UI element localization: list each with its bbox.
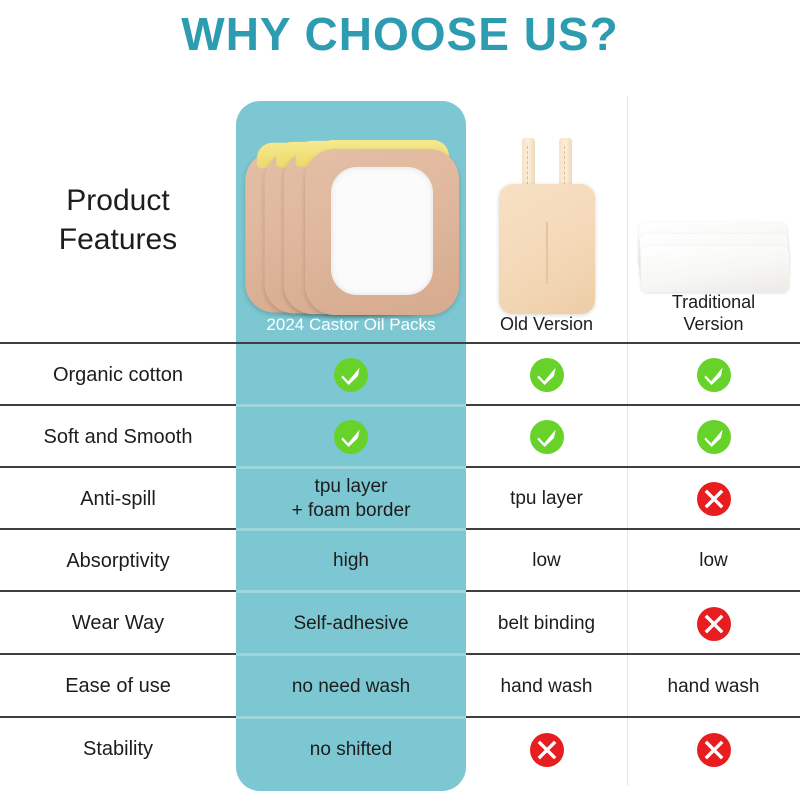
column-header-old-version: Old Version bbox=[466, 96, 627, 344]
feature-label: Anti-spill bbox=[0, 468, 236, 530]
feature-label: Absorptivity bbox=[0, 530, 236, 592]
feature-label: Soft and Smooth bbox=[0, 406, 236, 468]
cross-icon bbox=[466, 718, 627, 781]
cell-value: hand wash bbox=[466, 655, 627, 718]
table-row: Absorptivityhighlowlow bbox=[0, 530, 800, 592]
cell-value: low bbox=[627, 530, 800, 592]
pack-layer-front bbox=[305, 149, 459, 315]
check-icon bbox=[236, 344, 466, 406]
castor-oil-packs-image bbox=[236, 96, 466, 315]
comparison-table: Product Features 2024 Castor Oil Packs bbox=[0, 96, 800, 796]
traditional-version-image bbox=[627, 96, 800, 292]
check-icon bbox=[466, 344, 627, 406]
check-icon bbox=[627, 406, 800, 468]
table-row: Anti-spilltpu layer+ foam bordertpu laye… bbox=[0, 468, 800, 530]
cell-value: no need wash bbox=[236, 655, 466, 718]
traditional-label-line1: Traditional bbox=[672, 292, 755, 314]
features-header-line2: Features bbox=[59, 220, 177, 259]
cell-value: high bbox=[236, 530, 466, 592]
cross-icon bbox=[627, 592, 800, 655]
check-icon bbox=[236, 406, 466, 468]
column-header-new-product: 2024 Castor Oil Packs bbox=[236, 96, 466, 344]
table-row: Organic cotton bbox=[0, 344, 800, 406]
feature-label: Organic cotton bbox=[0, 344, 236, 406]
cell-value: Self-adhesive bbox=[236, 592, 466, 655]
cell-value: tpu layer bbox=[466, 468, 627, 530]
feature-label: Ease of use bbox=[0, 655, 236, 718]
features-header-line1: Product bbox=[59, 181, 177, 220]
cell-value-line2: + foam border bbox=[292, 499, 411, 523]
feature-label: Stability bbox=[0, 718, 236, 781]
traditional-label-line2: Version bbox=[672, 314, 755, 336]
column-label-new-product: 2024 Castor Oil Packs bbox=[266, 315, 435, 336]
belt-wrap-body bbox=[499, 184, 595, 314]
table-row: Stabilityno shifted bbox=[0, 718, 800, 781]
table-header-row: Product Features 2024 Castor Oil Packs bbox=[0, 96, 800, 344]
column-label-old-version: Old Version bbox=[500, 314, 593, 336]
cross-icon bbox=[627, 718, 800, 781]
cell-value: no shifted bbox=[236, 718, 466, 781]
check-icon bbox=[466, 406, 627, 468]
column-header-traditional-version: Traditional Version bbox=[627, 96, 800, 344]
table-row: Soft and Smooth bbox=[0, 406, 800, 468]
table-row: Wear WaySelf-adhesivebelt binding bbox=[0, 592, 800, 655]
product-features-header: Product Features bbox=[0, 96, 236, 344]
flannel-sheet-bottom bbox=[641, 246, 789, 292]
old-version-image bbox=[466, 96, 627, 314]
cell-value-line1: tpu layer bbox=[292, 475, 411, 499]
cell-value: tpu layer+ foam border bbox=[236, 468, 466, 530]
page-title: WHY CHOOSE US? bbox=[0, 8, 800, 61]
cell-value: hand wash bbox=[627, 655, 800, 718]
feature-label: Wear Way bbox=[0, 592, 236, 655]
cell-value: low bbox=[466, 530, 627, 592]
cross-icon bbox=[627, 468, 800, 530]
table-row: Ease of useno need washhand washhand was… bbox=[0, 655, 800, 718]
cell-value: belt binding bbox=[466, 592, 627, 655]
column-label-traditional-version: Traditional Version bbox=[672, 292, 755, 336]
pack-absorbent-pad bbox=[331, 167, 433, 295]
check-icon bbox=[627, 344, 800, 406]
